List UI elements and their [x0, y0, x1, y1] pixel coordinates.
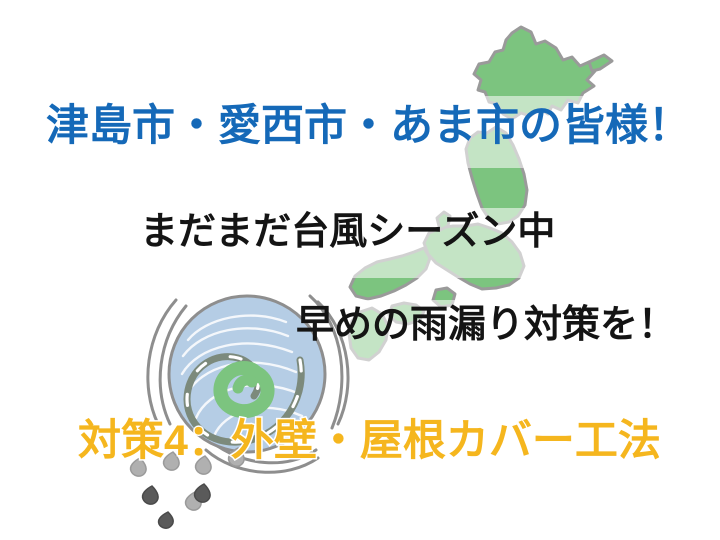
wind-streak-left-2	[160, 306, 186, 424]
swirl-highlight-5	[196, 385, 300, 418]
measure-four-label: 対策4：外壁・屋根カバー工法	[78, 420, 661, 463]
raindrop-dark	[159, 512, 174, 528]
typhoon-core-tail	[238, 380, 252, 388]
map-region-kinki-chugoku	[350, 248, 430, 299]
swirl-highlight-2	[183, 328, 288, 356]
callout-leak-prevention: 早めの雨漏り対策を！	[296, 306, 676, 344]
subhead-typhoon-season: まだまだ台風シーズン中	[140, 213, 555, 251]
raindrop	[186, 492, 202, 510]
poster-canvas: 津島市・愛西市・あま市の皆様！ まだまだ台風シーズン中 早めの雨漏り対策を！ 対…	[0, 0, 720, 540]
raindrop-dark	[143, 486, 159, 504]
typhoon-core-swirl	[220, 368, 267, 411]
swirl-highlight-1	[188, 316, 286, 340]
map-cape-shiretoko	[589, 55, 612, 71]
raindrop-dark	[195, 484, 211, 502]
headline-city-greeting: 津島市・愛西市・あま市の皆様！	[46, 105, 691, 148]
wind-streak-left	[148, 300, 176, 424]
swirl-highlight-4	[186, 363, 296, 396]
swirl-highlight-3	[182, 343, 292, 374]
